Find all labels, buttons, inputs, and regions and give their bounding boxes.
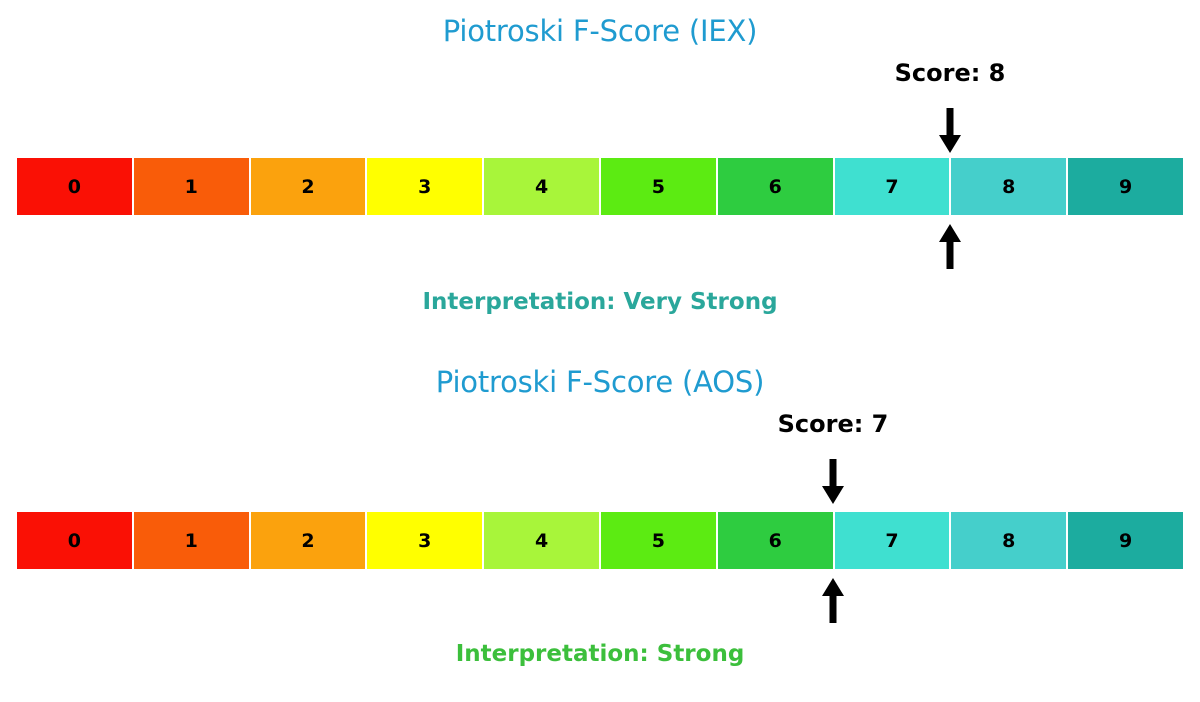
scale-segment-7: 7 [834,511,951,570]
scale-segment-8: 8 [950,511,1067,570]
scale-segment-9: 9 [1067,511,1184,570]
scale-segment-1: 1 [133,511,250,570]
scale-segment-5: 5 [600,157,717,216]
score-marker-up-arrow-aos [820,578,846,624]
score-panel-aos: Piotroski F-Score (AOS) Score: 7 0123456… [0,351,1200,702]
scale-segment-2: 2 [250,511,367,570]
scale-segment-6: 6 [717,511,834,570]
scale-segment-8: 8 [950,157,1067,216]
scale-segment-1: 1 [133,157,250,216]
scale-segment-4: 4 [483,157,600,216]
interpretation-label-aos: Interpretation: Strong [0,641,1200,667]
scale-segment-5: 5 [600,511,717,570]
score-panel-iex: Piotroski F-Score (IEX) Score: 8 0123456… [0,0,1200,340]
score-annotation-aos: Score: 7 [778,410,889,438]
scale-segment-6: 6 [717,157,834,216]
chart-title-aos: Piotroski F-Score (AOS) [0,365,1200,399]
score-marker-up-arrow-iex [937,224,963,270]
scale-segment-0: 0 [16,157,133,216]
scale-segment-3: 3 [366,511,483,570]
chart-title-iex: Piotroski F-Score (IEX) [0,14,1200,48]
scale-segment-4: 4 [483,511,600,570]
score-annotation-iex: Score: 8 [895,59,1006,87]
scale-segment-2: 2 [250,157,367,216]
interpretation-label-iex: Interpretation: Very Strong [0,289,1200,315]
scale-segment-3: 3 [366,157,483,216]
score-scale-bar-aos: 0123456789 [16,511,1184,570]
score-scale-bar-iex: 0123456789 [16,157,1184,216]
score-marker-down-arrow-aos [820,459,846,505]
score-marker-down-arrow-iex [937,108,963,154]
scale-segment-9: 9 [1067,157,1184,216]
scale-segment-0: 0 [16,511,133,570]
scale-segment-7: 7 [834,157,951,216]
